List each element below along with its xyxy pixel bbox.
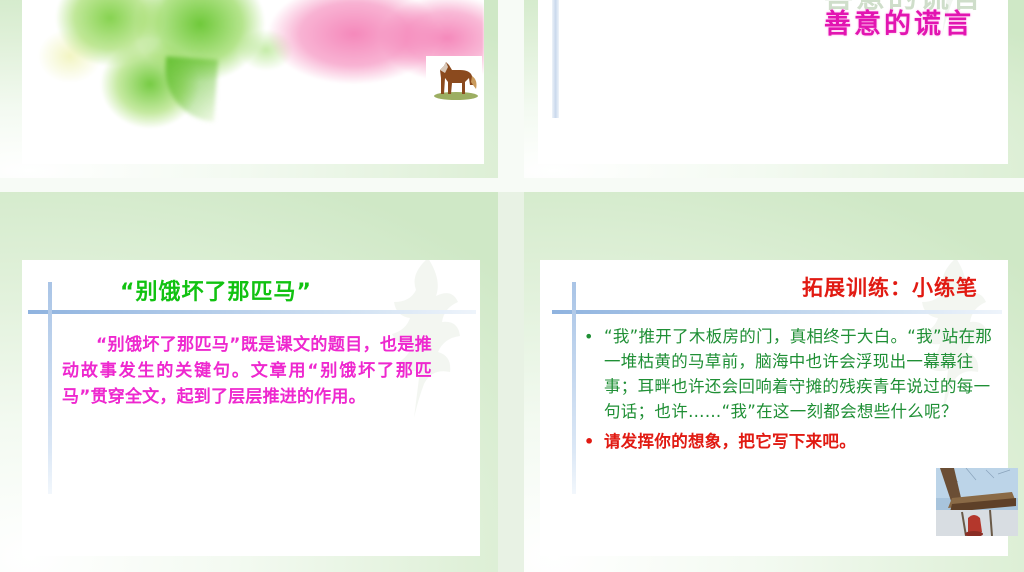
cross-decoration-horizontal (28, 310, 476, 314)
shed-photo (936, 468, 1018, 536)
slide-4-title: 拓展训练：小练笔 (802, 272, 978, 302)
slide-thumbnail-1[interactable]: • 课文几次写到了“别饿坏了那匹马”，其用意是什么？ (0, 0, 498, 178)
grid-gutter-horizontal-right (524, 178, 1024, 192)
slide-2-highlight-text: 善意的谎言 (824, 2, 974, 41)
bullet-glyph: • (584, 429, 595, 454)
list-item: • 请发挥你的想象，把它写下来吧。 (582, 429, 1000, 454)
list-item-text: 请发挥你的想象，把它写下来吧。 (604, 432, 856, 451)
grid-gutter-vertical-top (498, 0, 524, 178)
cross-decoration-vertical (572, 282, 576, 494)
grid-gutter-horizontal-left (0, 178, 498, 192)
slide-3-title: “别饿坏了那匹马” (120, 274, 312, 306)
slide-2-canvas: • 第二次是青年看见“我”背着马草走向书摊时，吩咐妹妹碧云的话。 • 第三次是“… (538, 0, 1008, 164)
bullet-glyph: • (584, 324, 594, 349)
slide-4-bullet-list: • “我”推开了木板房的门，真相终于大白。“我”站在那一堆枯黄的马草前，脑海中也… (582, 324, 1000, 459)
slide-thumbnail-grid: • 课文几次写到了“别饿坏了那匹马”，其用意是什么？ • 第二次是青年看见“我”… (0, 0, 1024, 572)
slide-1-canvas: • 课文几次写到了“别饿坏了那匹马”，其用意是什么？ (22, 0, 484, 164)
cross-decoration-vertical (48, 282, 52, 494)
cross-decoration-horizontal (552, 310, 1002, 314)
grid-gutter-center (498, 178, 524, 192)
horse-photo (426, 56, 482, 100)
slide-thumbnail-2[interactable]: • 第二次是青年看见“我”背着马草走向书摊时，吩咐妹妹碧云的话。 • 第三次是“… (524, 0, 1024, 178)
slide-thumbnail-3[interactable]: “别饿坏了那匹马” “别饿坏了那匹马”既是课文的题目，也是推动故事发生的关键句。… (0, 192, 498, 572)
list-item: • “我”推开了木板房的门，真相终于大白。“我”站在那一堆枯黄的马草前，脑海中也… (582, 324, 1000, 424)
slide-thumbnail-4[interactable]: 拓展训练：小练笔 • “我”推开了木板房的门，真相终于大白。“我”站在那一堆枯黄… (524, 192, 1024, 572)
decorative-rail (552, 0, 559, 118)
list-item-text: “我”推开了木板房的门，真相终于大白。“我”站在那一堆枯黄的马草前，脑海中也许会… (604, 327, 992, 421)
slide-3-body-text: “别饿坏了那匹马”既是课文的题目，也是推动故事发生的关键句。文章用“别饿坏了那匹… (62, 332, 432, 410)
clover-watercolor-image (22, 0, 484, 164)
